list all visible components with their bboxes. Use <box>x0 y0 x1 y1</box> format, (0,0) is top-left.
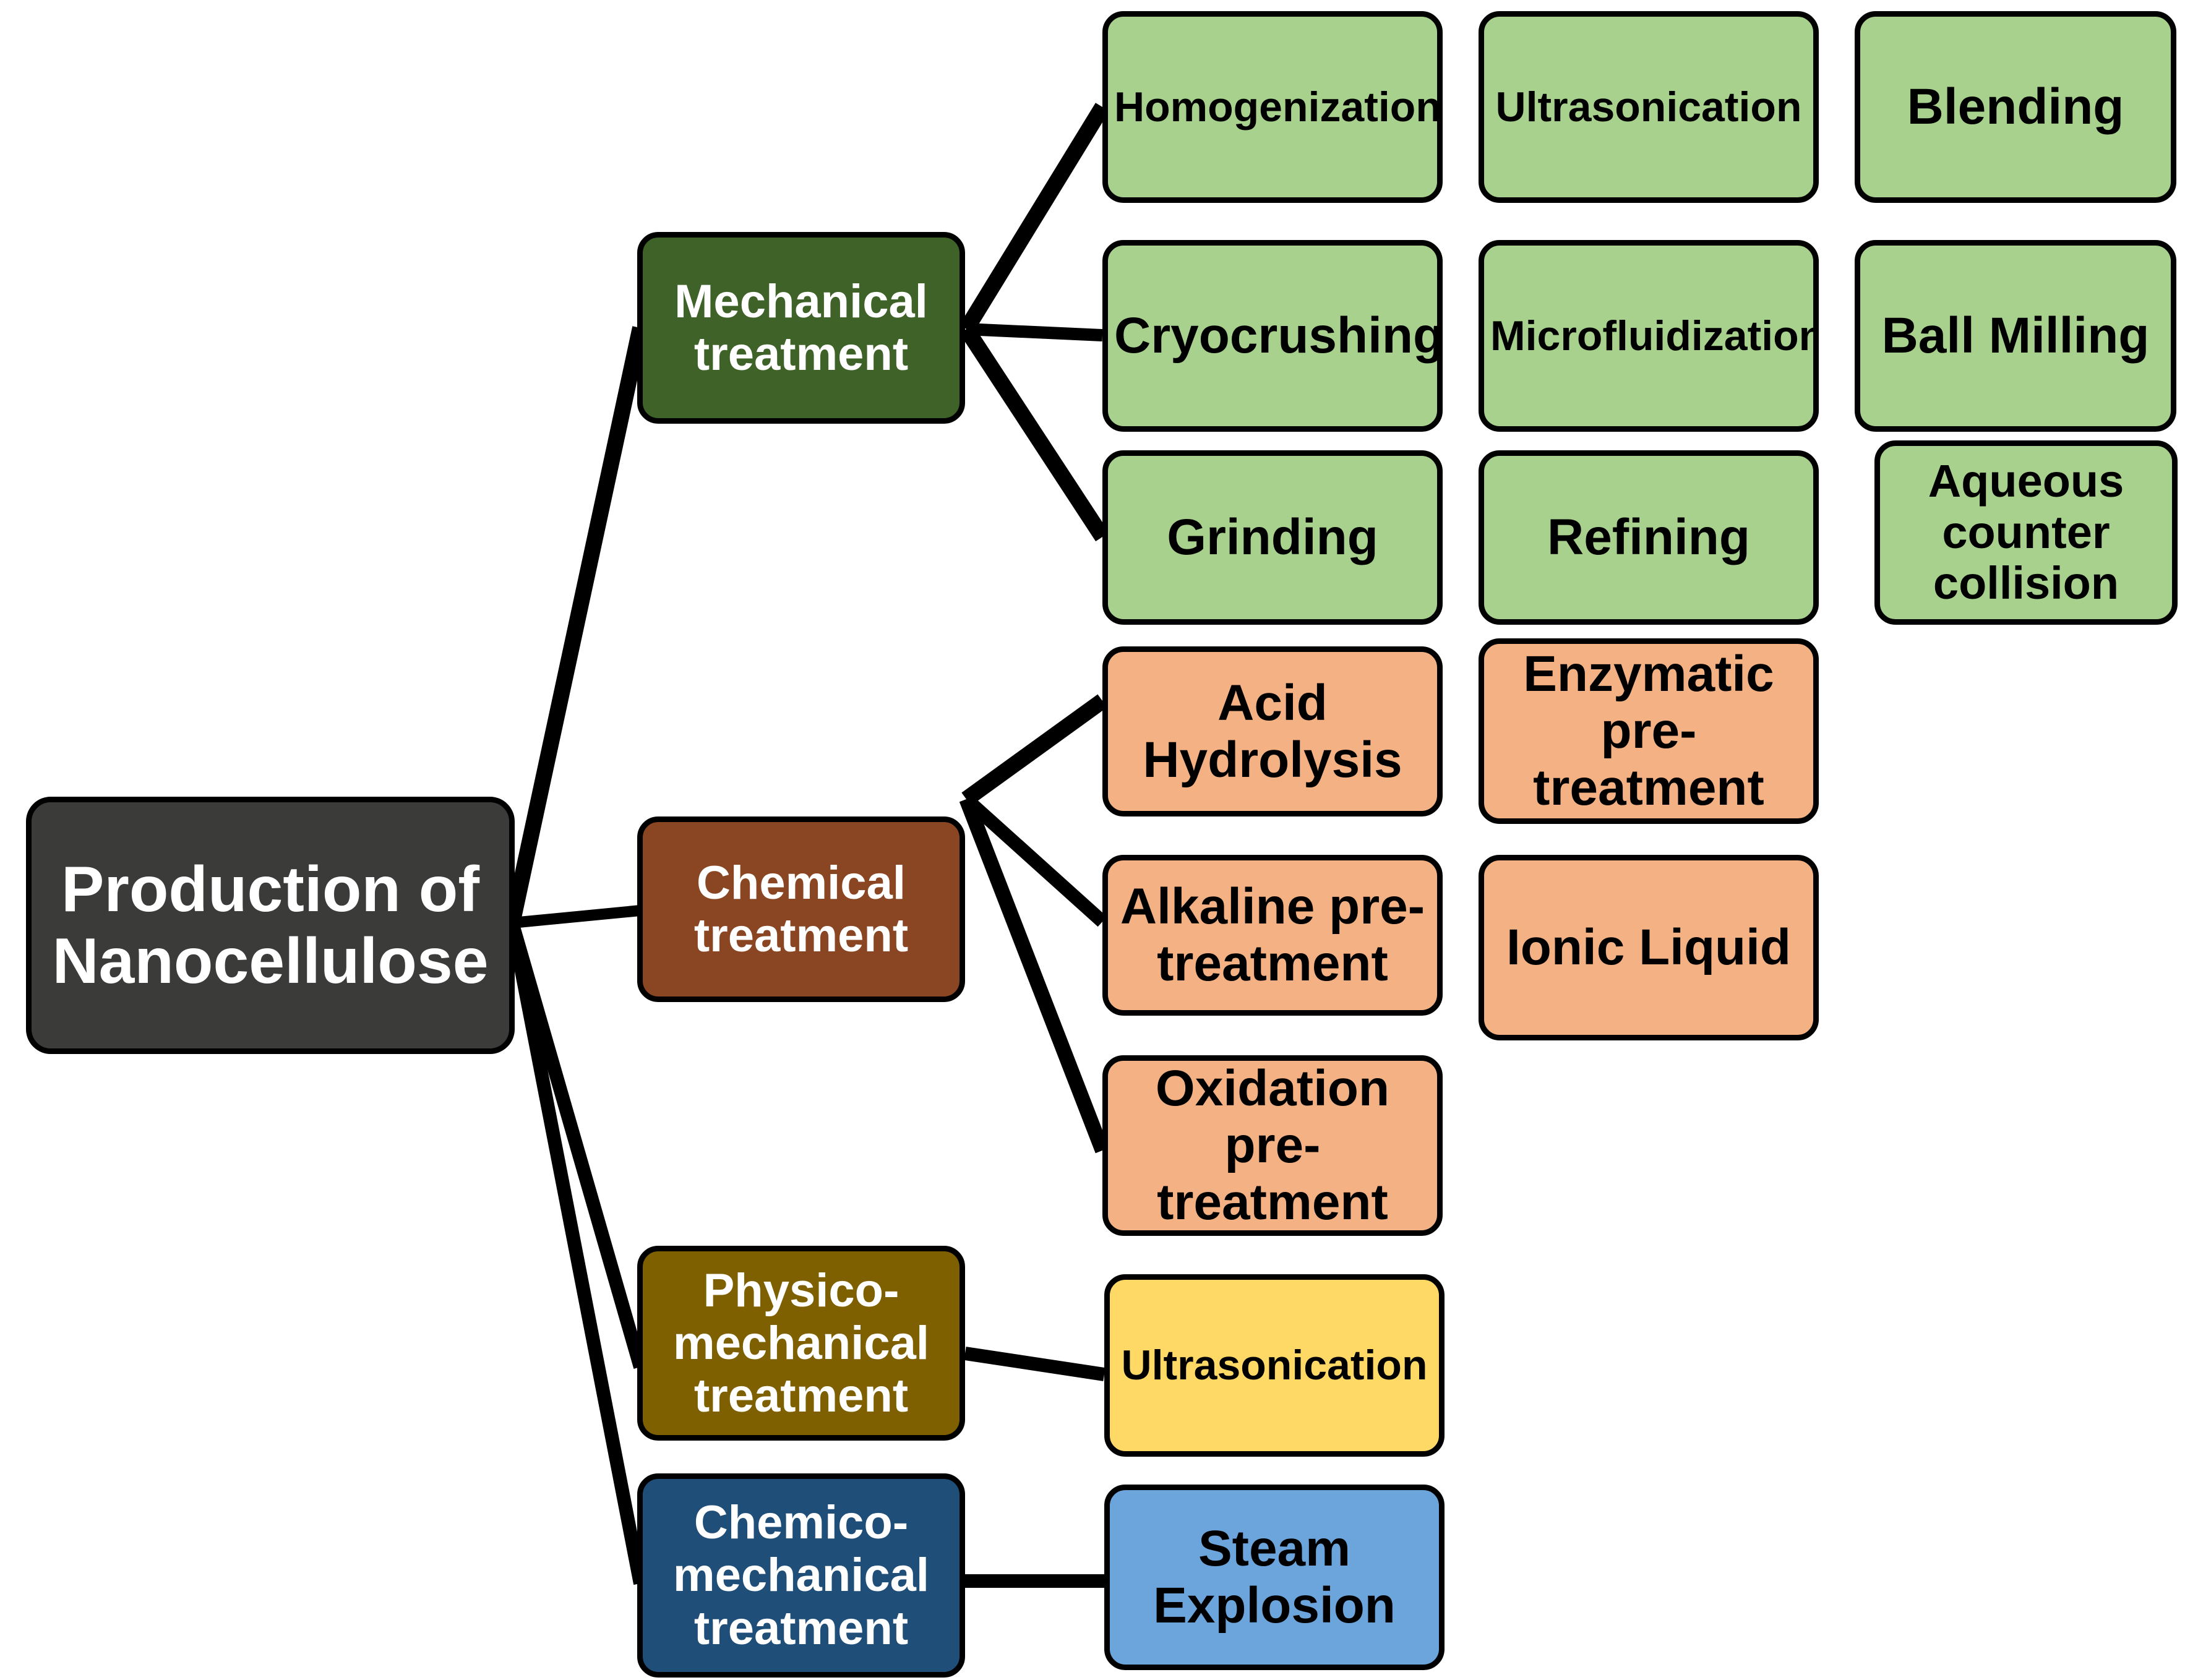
leaf-label-ball-milling: Ball Milling <box>1866 307 2165 364</box>
connector-root-to-chemico <box>512 923 640 1584</box>
leaf-node-microfluidization[interactable]: Microfluidization <box>1479 240 1819 432</box>
leaf-label-steam-explosion: SteamExplosion <box>1116 1520 1433 1634</box>
leaf-node-blending[interactable]: Blending <box>1855 11 2176 203</box>
leaf-node-homogenization[interactable]: Homogenization <box>1102 11 1443 203</box>
connector-root-to-physico <box>512 923 640 1367</box>
category-label-chemico-mechanical: Chemico-mechanicaltreatment <box>649 1496 953 1654</box>
leaf-label-refining: Refining <box>1490 509 1807 566</box>
leaf-label-homogenization: Homogenization <box>1114 84 1431 131</box>
leaf-label-blending: Blending <box>1866 79 2165 135</box>
category-node-chemical-treatment[interactable]: Chemicaltreatment <box>637 816 965 1002</box>
category-label-physico-mechanical: Physico-mechanicaltreatment <box>649 1264 953 1422</box>
leaf-node-aqueous-counter-collision[interactable]: Aqueouscountercollision <box>1874 440 2178 625</box>
leaf-label-ultrasonication-mechanical: Ultrasonication <box>1490 84 1807 131</box>
leaf-node-enzymatic-pre-treatment[interactable]: Enzymaticpre-treatment <box>1479 638 1819 824</box>
connector-mechanical-to-cryocrushing <box>966 329 1102 335</box>
category-node-physico-mechanical-treatment[interactable]: Physico-mechanicaltreatment <box>637 1246 965 1441</box>
connector-chemical-to-acid-hydrolysis <box>966 701 1102 799</box>
leaf-node-alkaline-pre-treatment[interactable]: Alkaline pre-treatment <box>1102 855 1443 1016</box>
leaf-label-microfluidization: Microfluidization <box>1490 312 1807 359</box>
leaf-label-alkaline-pre-treatment: Alkaline pre-treatment <box>1114 878 1431 992</box>
category-node-mechanical-treatment[interactable]: Mechanicaltreatment <box>637 232 965 424</box>
connector-chemical-to-alkaline <box>966 799 1102 922</box>
root-node-label: Production ofNanocellulose <box>38 854 503 998</box>
leaf-node-steam-explosion[interactable]: SteamExplosion <box>1104 1485 1445 1670</box>
connector-mechanical-to-grinding <box>966 329 1102 537</box>
leaf-node-acid-hydrolysis[interactable]: AcidHydrolysis <box>1102 646 1443 816</box>
connector-root-to-chemical <box>512 911 640 923</box>
connector-mechanical-to-homogenization <box>966 107 1102 329</box>
leaf-node-refining[interactable]: Refining <box>1479 450 1819 625</box>
leaf-label-aqueous-counter-collision: Aqueouscountercollision <box>1886 456 2166 610</box>
leaf-node-grinding[interactable]: Grinding <box>1102 450 1443 625</box>
connector-physico-to-ultrasonication <box>965 1353 1104 1374</box>
leaf-label-ultrasonication-physico: Ultrasonication <box>1116 1342 1433 1389</box>
leaf-node-ultrasonication-mechanical[interactable]: Ultrasonication <box>1479 11 1819 203</box>
leaf-label-grinding: Grinding <box>1114 509 1431 566</box>
leaf-label-enzymatic-pre-treatment: Enzymaticpre-treatment <box>1490 646 1807 816</box>
connector-root-to-mechanical <box>512 328 640 923</box>
leaf-label-cryocrushing: Cryocrushing <box>1114 307 1431 364</box>
leaf-label-acid-hydrolysis: AcidHydrolysis <box>1114 675 1431 789</box>
leaf-label-ionic-liquid: Ionic Liquid <box>1490 919 1807 976</box>
leaf-node-ball-milling[interactable]: Ball Milling <box>1855 240 2176 432</box>
category-label-mechanical: Mechanicaltreatment <box>649 275 953 380</box>
leaf-node-ultrasonication-physico[interactable]: Ultrasonication <box>1104 1274 1445 1457</box>
category-node-chemico-mechanical-treatment[interactable]: Chemico-mechanicaltreatment <box>637 1473 965 1678</box>
connector-chemical-to-oxidation <box>966 799 1102 1151</box>
leaf-node-oxidation-pre-treatment[interactable]: Oxidationpre-treatment <box>1102 1055 1443 1236</box>
leaf-node-ionic-liquid[interactable]: Ionic Liquid <box>1479 855 1819 1040</box>
root-node-production-of-nanocellulose[interactable]: Production ofNanocellulose <box>26 797 515 1054</box>
leaf-node-cryocrushing[interactable]: Cryocrushing <box>1102 240 1443 432</box>
category-label-chemical: Chemicaltreatment <box>649 857 953 962</box>
leaf-label-oxidation-pre-treatment: Oxidationpre-treatment <box>1114 1060 1431 1230</box>
diagram-canvas: Production ofNanocellulose Mechanicaltre… <box>0 0 2198 1680</box>
